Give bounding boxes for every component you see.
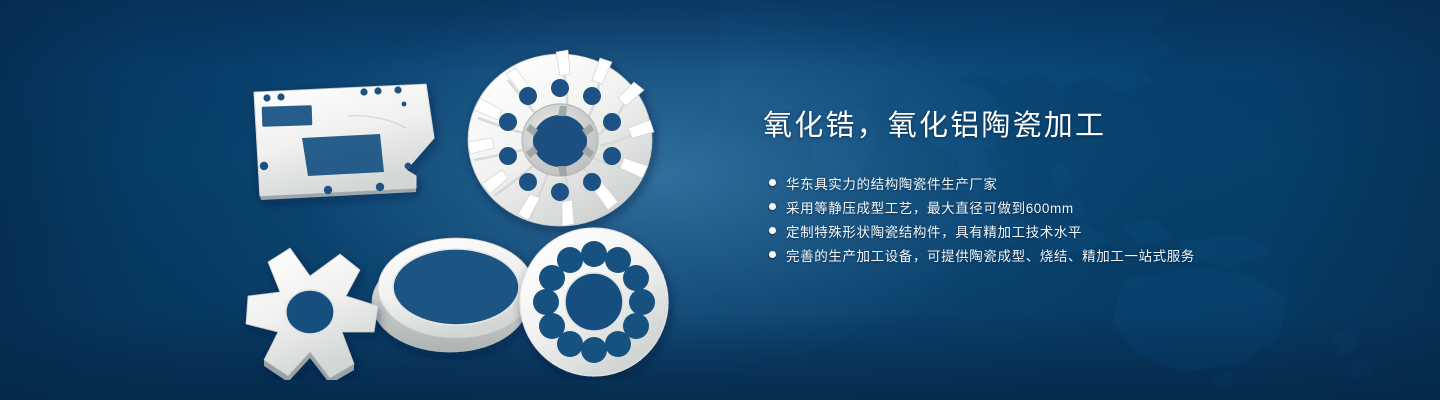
list-item: 完善的生产加工设备，可提供陶瓷成型、烧结、精加工一站式服务 xyxy=(763,243,1403,266)
ceramic-perforated-disc xyxy=(520,228,668,376)
page-title: 氧化锆，氧化铝陶瓷加工 xyxy=(763,108,1403,145)
list-item: 采用等静压成型工艺，最大直径可做到600mm xyxy=(763,195,1403,218)
list-item-label: 华东具实力的结构陶瓷件生产厂家 xyxy=(786,173,998,193)
list-item: 华东具实力的结构陶瓷件生产厂家 xyxy=(763,171,1403,194)
list-item: 定制特殊形状陶瓷结构件，具有精加工技术水平 xyxy=(763,219,1403,242)
ceramic-rings xyxy=(372,238,534,352)
ceramic-impeller-disc xyxy=(468,50,654,226)
feature-list: 华东具实力的结构陶瓷件生产厂家 采用等静压成型工艺，最大直径可做到600mm 定… xyxy=(763,171,1403,266)
product-photo-group xyxy=(230,30,700,380)
list-item-label: 采用等静压成型工艺，最大直径可做到600mm xyxy=(786,197,1074,217)
bullet-dot-icon xyxy=(769,251,776,258)
bullet-dot-icon xyxy=(769,179,776,186)
bullet-dot-icon xyxy=(769,227,776,234)
ceramic-mounting-plate xyxy=(254,84,434,200)
ceramic-star-plate xyxy=(246,248,378,380)
copy-block: 氧化锆，氧化铝陶瓷加工 华东具实力的结构陶瓷件生产厂家 采用等静压成型工艺，最大… xyxy=(763,108,1403,267)
list-item-label: 定制特殊形状陶瓷结构件，具有精加工技术水平 xyxy=(786,221,1082,241)
hero-banner: 氧化锆，氧化铝陶瓷加工 华东具实力的结构陶瓷件生产厂家 采用等静压成型工艺，最大… xyxy=(0,0,1440,400)
list-item-label: 完善的生产加工设备，可提供陶瓷成型、烧结、精加工一站式服务 xyxy=(786,245,1195,265)
bullet-dot-icon xyxy=(769,203,776,210)
